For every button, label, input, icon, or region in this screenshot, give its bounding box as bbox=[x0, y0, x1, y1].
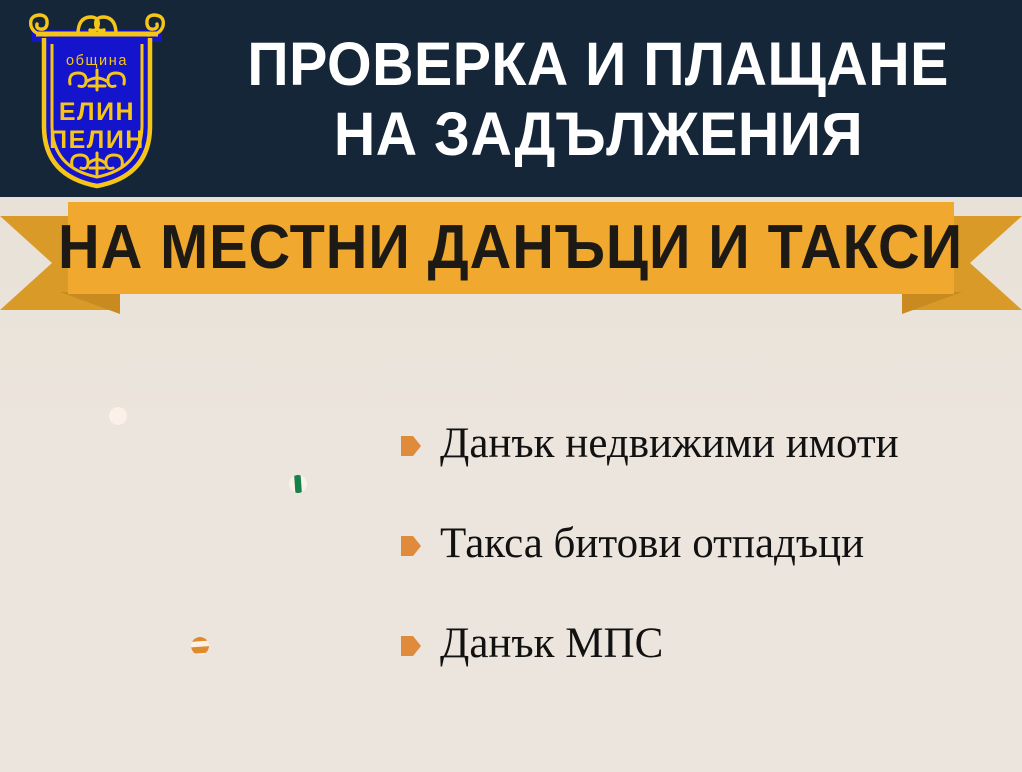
poster-root: община ЕЛИН ПЕЛИН bbox=[0, 0, 1022, 772]
header-bar: община ЕЛИН ПЕЛИН bbox=[0, 0, 1022, 197]
ribbon-label: НА МЕСТНИ ДАНЪЦИ И ТАКСИ bbox=[59, 217, 964, 279]
list-item-label: Данък недвижими имоти bbox=[440, 420, 899, 468]
crest-name-line1: ЕЛИН bbox=[59, 98, 135, 126]
crest-top-text: община bbox=[66, 53, 128, 69]
page-title: ПРОВЕРКА И ПЛАЩАНЕ НА ЗАДЪЛЖЕНИЯ bbox=[180, 14, 1016, 184]
crest-icon: община ЕЛИН ПЕЛИН bbox=[22, 8, 172, 190]
list-item-label: Такса битови отпадъци bbox=[440, 520, 864, 568]
stamp-card-house bbox=[8, 306, 228, 526]
list-item[interactable]: Данък МПС bbox=[400, 620, 1012, 668]
list-item[interactable]: Такса битови отпадъци bbox=[400, 520, 1012, 568]
bullet-arrow-icon bbox=[400, 633, 422, 659]
stamp-scallop-border bbox=[81, 527, 319, 765]
bullet-arrow-icon bbox=[400, 433, 422, 459]
crest-name-line2: ПЕЛИН bbox=[49, 126, 145, 154]
stamp-scallop-border bbox=[8, 306, 228, 526]
subtitle-ribbon: НА МЕСТНИ ДАНЪЦИ И ТАКСИ bbox=[0, 196, 1022, 316]
ribbon-band: НА МЕСТНИ ДАНЪЦИ И ТАКСИ bbox=[68, 202, 954, 294]
stamp-card-car bbox=[81, 527, 319, 765]
bullet-arrow-icon bbox=[400, 533, 422, 559]
title-line-1: ПРОВЕРКА И ПЛАЩАНЕ bbox=[247, 29, 949, 99]
list-item[interactable]: Данък недвижими имоти bbox=[400, 420, 1012, 468]
title-line-2: НА ЗАДЪЛЖЕНИЯ bbox=[333, 99, 862, 169]
list-item-label: Данък МПС bbox=[440, 620, 663, 668]
municipality-crest: община ЕЛИН ПЕЛИН bbox=[22, 8, 172, 190]
obligations-list: Данък недвижими имоти Такса битови отпад… bbox=[400, 420, 1012, 720]
